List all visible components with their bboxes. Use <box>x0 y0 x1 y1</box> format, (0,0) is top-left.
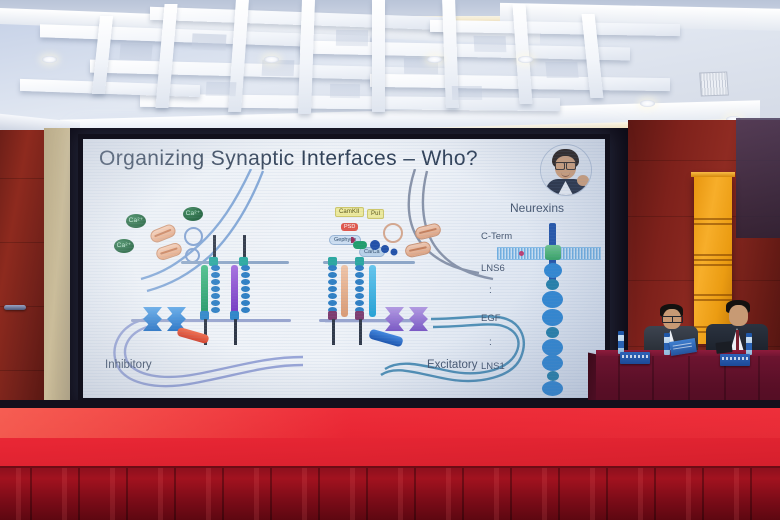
projection-screen[interactable]: Organizing Synaptic Interfaces – Who? Ca… <box>83 139 605 398</box>
domain-label-c-term: C-Term <box>481 231 512 242</box>
calcium-ion-3: Ca²⁺ <box>183 207 203 221</box>
tag-pui: PuI <box>367 209 384 219</box>
ceiling-void-9 <box>330 84 360 99</box>
downlight-3 <box>427 56 442 63</box>
nameplate-left <box>620 352 650 364</box>
lns-domain-3 <box>542 339 563 356</box>
egf-linker-1 <box>546 279 559 290</box>
vesicle-1 <box>184 227 203 246</box>
downlight-1 <box>42 56 57 63</box>
nameplate-right <box>720 354 750 366</box>
wall-right-upper-shadow <box>736 118 780 238</box>
postsyn-tail-r1 <box>332 319 335 345</box>
postsyn-tail-l2 <box>234 319 237 345</box>
bead-chain-l1 <box>211 265 220 317</box>
air-vent-grille <box>699 72 729 97</box>
calcium-ion-2: Ca²⁺ <box>114 239 134 253</box>
postsyn-tail-r2 <box>359 319 362 345</box>
ceiling-bar-v5 <box>372 0 385 112</box>
domain-label-lns1: LNS1 <box>481 361 505 372</box>
ceiling-void-10 <box>452 86 482 100</box>
bead-chain-r1 <box>328 265 337 317</box>
neuroligin-purple <box>231 265 238 317</box>
ampa-receptor-2 <box>409 307 428 331</box>
downlight-2 <box>264 56 279 63</box>
bead-chain-l2 <box>241 265 250 317</box>
domain-label-egf: EGF <box>481 313 501 324</box>
neurexin-transmembrane-domain <box>545 245 561 260</box>
ceiling-void-1 <box>119 43 152 60</box>
tag-psd: PSD <box>341 223 358 231</box>
neuroligin-cyan <box>369 265 376 317</box>
ceiling-void-8 <box>206 82 237 97</box>
ceiling-void-2 <box>191 33 226 50</box>
domain-ellipsis-2: : <box>489 337 494 348</box>
panel-label-inhibitory: Inhibitory <box>105 359 152 371</box>
egf-linker-2 <box>547 371 559 381</box>
conference-hall-photo: Organizing Synaptic Interfaces – Who? Ca… <box>0 0 780 520</box>
stage-skirt <box>0 468 780 520</box>
wall-left-wood-door <box>0 130 44 430</box>
lns-domain-2 <box>542 355 563 371</box>
neuroligin-peach <box>341 265 348 317</box>
neurexins-heading: Neurexins <box>510 201 564 215</box>
lns-domain-5 <box>542 291 563 308</box>
gaba-receptor-1 <box>143 307 162 331</box>
lns1-domain <box>542 381 563 396</box>
tag-camkii: CamKII <box>335 207 364 217</box>
water-bottle-1[interactable] <box>618 334 624 354</box>
calcium-ion-1: Ca²⁺ <box>126 214 146 228</box>
bead-chain-r2 <box>355 265 364 317</box>
membrane-marker-dot <box>519 251 524 256</box>
domain-ellipsis-1: : <box>489 285 494 296</box>
egf-domain <box>546 327 559 338</box>
lns-domain-4 <box>542 309 563 326</box>
stage-carpet-sheen <box>0 408 780 438</box>
ceiling-void-7 <box>545 62 578 78</box>
downlight-4 <box>518 56 533 63</box>
ceiling-void-4 <box>336 30 368 47</box>
neuroligin-green <box>201 265 208 317</box>
lns6-domain <box>544 263 562 278</box>
slide-title: Organizing Synaptic Interfaces – Who? <box>99 147 478 171</box>
door-handle[interactable] <box>4 305 26 310</box>
water-bottle-3[interactable] <box>746 336 752 355</box>
downlight-6 <box>640 100 655 107</box>
ampa-receptor-1 <box>385 307 404 331</box>
ceiling-void-6 <box>474 36 507 53</box>
panel-label-excitatory: Excitatory <box>427 359 478 371</box>
tablet-device[interactable] <box>715 341 732 354</box>
presynaptic-membrane-left <box>181 261 289 264</box>
domain-label-lns6: LNS6 <box>481 263 505 274</box>
